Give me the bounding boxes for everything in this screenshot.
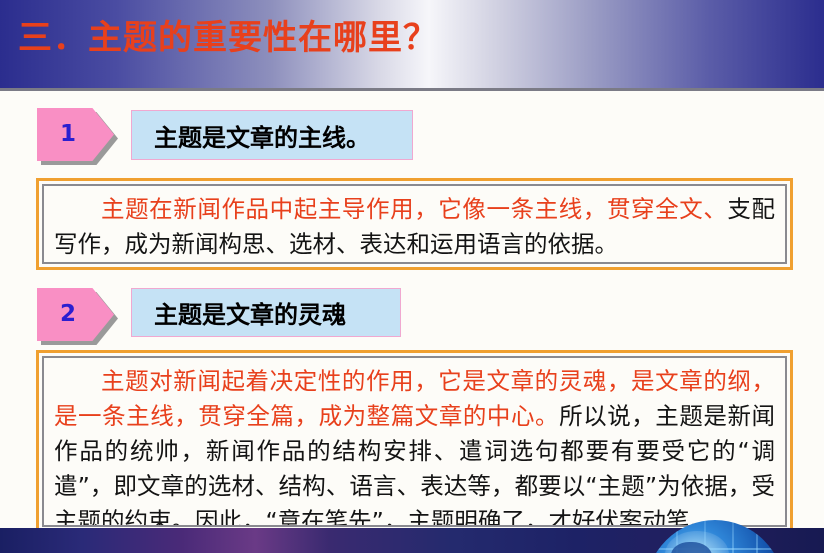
point-paragraph-inner-1: 主题在新闻作品中起主导作用，它像一条主线，贯穿全文、支配写作，成为新闻构思、选材… bbox=[42, 184, 787, 264]
point-paragraph-text-1: 主题在新闻作品中起主导作用，它像一条主线，贯穿全文、支配写作，成为新闻构思、选材… bbox=[54, 192, 775, 262]
point-badge-2: 2 bbox=[37, 288, 114, 341]
point-badge-1: 1 bbox=[37, 108, 114, 161]
point-heading-text-2: 主题是文章的灵魂 bbox=[132, 295, 346, 330]
point-paragraph-inner-2: 主题对新闻起着决定性的作用，它是文章的灵魂，是文章的纲，是一条主线，贯穿全篇，成… bbox=[42, 356, 787, 527]
point-paragraph-block-1: 主题在新闻作品中起主导作用，它像一条主线，贯穿全文、支配写作，成为新闻构思、选材… bbox=[36, 178, 793, 270]
point-heading-box-1: 主题是文章的主线。 bbox=[131, 110, 413, 160]
paragraph-1-segment-red: 主题在新闻作品中起主导作用，它像一条主线，贯穿全文、 bbox=[101, 195, 727, 223]
badge-number-2: 2 bbox=[37, 288, 99, 341]
slide-canvas: 三．主题的重要性在哪里？ 1 主题是文章的主线。 主题在新闻作品中起主导作用，它… bbox=[0, 0, 824, 553]
point-heading-text-1: 主题是文章的主线。 bbox=[132, 118, 370, 153]
page-title: 三．主题的重要性在哪里？ bbox=[18, 10, 438, 59]
title-underline bbox=[0, 88, 824, 91]
badge-number-1: 1 bbox=[37, 108, 99, 161]
point-heading-box-2: 主题是文章的灵魂 bbox=[131, 288, 401, 337]
point-paragraph-block-2: 主题对新闻起着决定性的作用，它是文章的灵魂，是文章的纲，是一条主线，贯穿全篇，成… bbox=[36, 350, 793, 533]
point-paragraph-text-2: 主题对新闻起着决定性的作用，它是文章的灵魂，是文章的纲，是一条主线，贯穿全篇，成… bbox=[54, 364, 775, 527]
